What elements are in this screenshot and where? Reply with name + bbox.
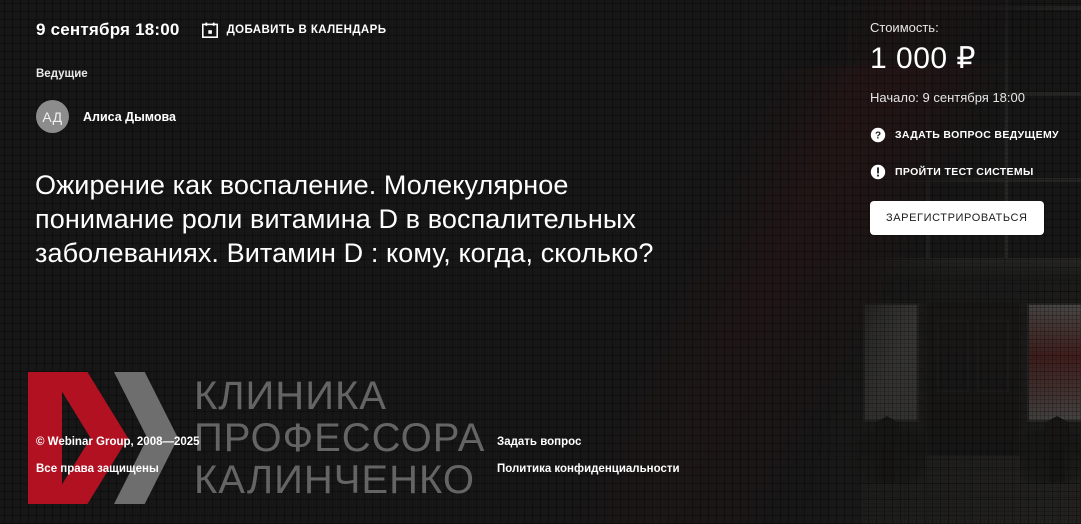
event-meta-row: 9 сентября 18:00 ДОБАВИТЬ В КАЛЕНДАРЬ (36, 20, 386, 40)
host-list-item[interactable]: АД Алиса Дымова (36, 100, 176, 133)
price-label: Стоимость: (870, 20, 1060, 35)
event-start-label: Начало: 9 сентября 18:00 (870, 90, 1060, 105)
exclamation-mark-circle-icon (870, 164, 886, 180)
registration-panel: Стоимость: 1 000 ₽ Начало: 9 сентября 18… (870, 20, 1060, 235)
footer-left-column: © Webinar Group, 2008—2025 Все права защ… (36, 436, 200, 475)
footer-copyright: © Webinar Group, 2008—2025 (36, 436, 200, 448)
footer-ask-question-link[interactable]: Задать вопрос (497, 436, 680, 448)
ask-host-question-label: ЗАДАТЬ ВОПРОС ВЕДУЩЕМУ (895, 129, 1059, 141)
calendar-icon (202, 22, 218, 38)
page-title: Ожирение как воспаление. Молекулярное по… (35, 168, 695, 270)
system-test-label: ПРОЙТИ ТЕСТ СИСТЕМЫ (895, 166, 1034, 178)
question-mark-circle-icon: ? (870, 127, 886, 143)
avatar: АД (36, 100, 69, 133)
host-name: Алиса Дымова (83, 110, 176, 124)
event-date-time: 9 сентября 18:00 (36, 20, 180, 40)
register-button[interactable]: ЗАРЕГИСТРИРОВАТЬСЯ (870, 201, 1044, 235)
svg-text:?: ? (875, 131, 881, 142)
hosts-section-label: Ведущие (36, 68, 88, 80)
footer-right-column: Задать вопрос Политика конфиденциальност… (497, 436, 680, 475)
ask-host-question-button[interactable]: ? ЗАДАТЬ ВОПРОС ВЕДУЩЕМУ (870, 127, 1060, 143)
add-to-calendar-label: ДОБАВИТЬ В КАЛЕНДАРЬ (227, 24, 387, 36)
system-test-button[interactable]: ПРОЙТИ ТЕСТ СИСТЕМЫ (870, 164, 1060, 180)
footer-privacy-policy-link[interactable]: Политика конфиденциальности (497, 463, 680, 475)
add-to-calendar-button[interactable]: ДОБАВИТЬ В КАЛЕНДАРЬ (202, 22, 387, 38)
price-value: 1 000 ₽ (870, 41, 1060, 76)
footer-rights: Все права защищены (36, 463, 200, 475)
webinar-landing-page: КЛИНИКА ПРОФЕССОРА КАЛИНЧЕНКО 9 сентября… (0, 0, 1081, 524)
